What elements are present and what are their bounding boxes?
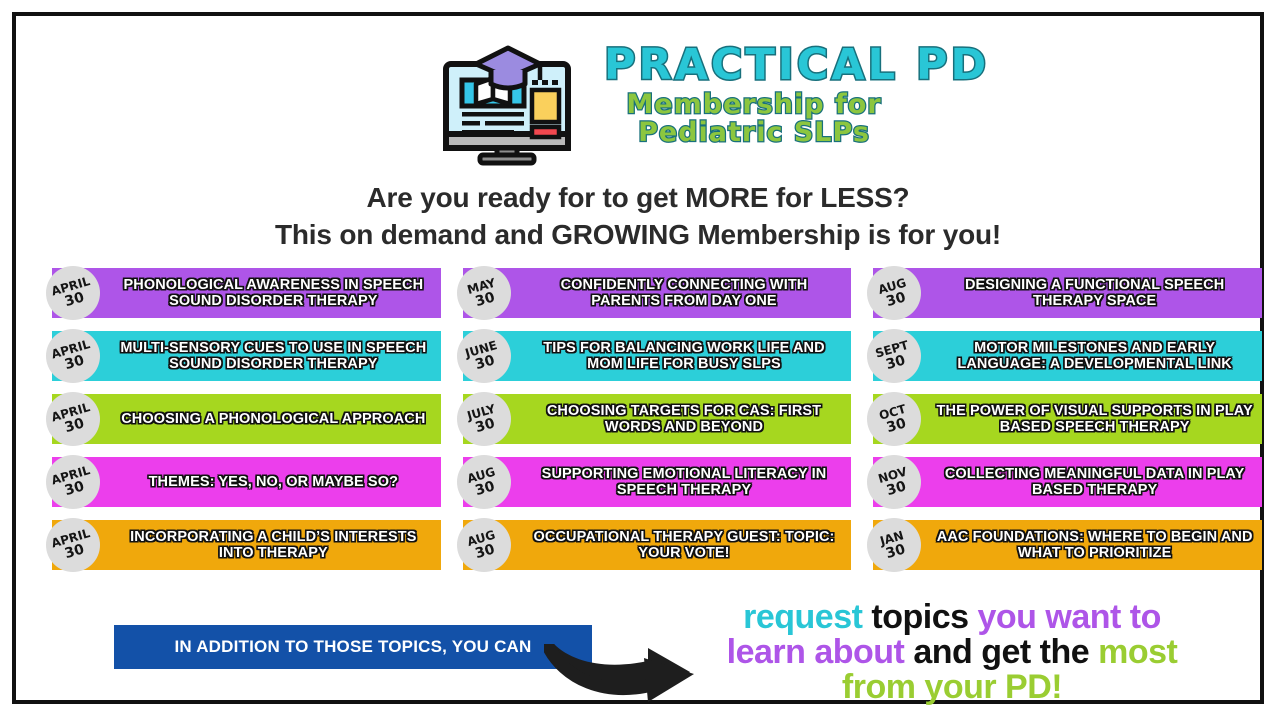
brand-name: PRACTICAL PD bbox=[604, 44, 904, 87]
promo-word-4: learn about bbox=[727, 633, 905, 671]
date-badge: APRIL30 bbox=[46, 329, 100, 383]
column-2: MAY30CONFIDENTLY CONNECTING WITH PARENTS… bbox=[463, 268, 852, 588]
session-card-title: THE POWER OF VISUAL SUPPORTS IN PLAY BAS… bbox=[935, 403, 1254, 435]
session-card[interactable]: APRIL30MULTI-SENSORY CUES TO USE IN SPEE… bbox=[52, 331, 441, 381]
promo-word-6: most bbox=[1098, 633, 1177, 671]
session-card[interactable]: AUG30SUPPORTING EMOTIONAL LITERACY IN SP… bbox=[463, 457, 852, 507]
session-card[interactable]: OCT30THE POWER OF VISUAL SUPPORTS IN PLA… bbox=[873, 394, 1262, 444]
session-card-title: DESIGNING A FUNCTIONAL SPEECH THERAPY SP… bbox=[935, 277, 1254, 309]
date-badge: SEPT30 bbox=[867, 329, 921, 383]
promo-word-1: request bbox=[743, 598, 862, 636]
date-badge-inner: JUNE30 bbox=[464, 339, 503, 374]
session-grid: APRIL30PHONOLOGICAL AWARENESS IN SPEECH … bbox=[52, 268, 1262, 588]
session-card[interactable]: SEPT30MOTOR MILESTONES AND EARLY LANGUAG… bbox=[873, 331, 1262, 381]
session-card[interactable]: AUG30DESIGNING A FUNCTIONAL SPEECH THERA… bbox=[873, 268, 1262, 318]
brand-tagline-line1: Membership for bbox=[626, 89, 881, 120]
session-card[interactable]: APRIL30PHONOLOGICAL AWARENESS IN SPEECH … bbox=[52, 268, 441, 318]
session-card-title: AAC FOUNDATIONS: WHERE TO BEGIN AND WHAT… bbox=[935, 529, 1254, 561]
session-card-title: TIPS FOR BALANCING WORK LIFE AND MOM LIF… bbox=[525, 340, 844, 372]
date-badge: APRIL30 bbox=[46, 518, 100, 572]
session-card-title: MOTOR MILESTONES AND EARLY LANGUAGE: A D… bbox=[935, 340, 1254, 372]
promo-word-3: you want to bbox=[977, 598, 1160, 636]
session-card-title: OCCUPATIONAL THERAPY GUEST: TOPIC: YOUR … bbox=[525, 529, 844, 561]
date-badge-inner: JAN30 bbox=[879, 529, 909, 562]
column-3: AUG30DESIGNING A FUNCTIONAL SPEECH THERA… bbox=[873, 268, 1262, 588]
session-card-title: SUPPORTING EMOTIONAL LITERACY IN SPEECH … bbox=[525, 466, 844, 498]
date-badge-inner: SEPT30 bbox=[874, 338, 914, 373]
date-badge: APRIL30 bbox=[46, 266, 100, 320]
session-card-title: PHONOLOGICAL AWARENESS IN SPEECH SOUND D… bbox=[114, 277, 433, 309]
date-badge: APRIL30 bbox=[46, 455, 100, 509]
date-badge: JUNE30 bbox=[457, 329, 511, 383]
in-addition-cta-button[interactable]: IN ADDITION TO THOSE TOPICS, YOU CAN bbox=[114, 625, 592, 669]
headline: Are you ready for to get MORE for LESS? … bbox=[16, 180, 1260, 254]
computer-monitor-graduation-cap-icon bbox=[436, 42, 596, 166]
column-1: APRIL30PHONOLOGICAL AWARENESS IN SPEECH … bbox=[52, 268, 441, 588]
headline-line-2: This on demand and GROWING Membership is… bbox=[16, 217, 1260, 254]
headline-line-1: Are you ready for to get MORE for LESS? bbox=[16, 180, 1260, 217]
session-card[interactable]: JAN30AAC FOUNDATIONS: WHERE TO BEGIN AND… bbox=[873, 520, 1262, 570]
session-card-title: INCORPORATING A CHILD’S INTERESTS INTO T… bbox=[114, 529, 433, 561]
date-badge-inner: APRIL30 bbox=[50, 338, 95, 375]
poster-frame: PRACTICAL PD Membership for Pediatric SL… bbox=[12, 12, 1264, 704]
session-card[interactable]: APRIL30CHOOSING A PHONOLOGICAL APPROACH bbox=[52, 394, 441, 444]
date-badge-inner: NOV30 bbox=[877, 465, 913, 499]
date-badge-inner: AUG30 bbox=[466, 465, 501, 499]
session-card[interactable]: JUNE30TIPS FOR BALANCING WORK LIFE AND M… bbox=[463, 331, 852, 381]
session-card[interactable]: APRIL30THEMES: YES, NO, OR MAYBE SO? bbox=[52, 457, 441, 507]
date-badge: JULY30 bbox=[457, 392, 511, 446]
session-card-title: MULTI-SENSORY CUES TO USE IN SPEECH SOUN… bbox=[114, 340, 433, 372]
promo-text: request topics you want to learn about a… bbox=[652, 600, 1252, 710]
date-badge: JAN30 bbox=[867, 518, 921, 572]
date-badge: AUG30 bbox=[457, 518, 511, 572]
brand-wordmark: PRACTICAL PD Membership for Pediatric SL… bbox=[604, 44, 904, 172]
brand-header: PRACTICAL PD Membership for Pediatric SL… bbox=[16, 26, 1260, 166]
date-badge-inner: OCT30 bbox=[878, 402, 912, 435]
date-badge: AUG30 bbox=[457, 455, 511, 509]
session-card[interactable]: MAY30CONFIDENTLY CONNECTING WITH PARENTS… bbox=[463, 268, 852, 318]
promo-word-2: topics bbox=[871, 598, 968, 636]
session-card-title: COLLECTING MEANINGFUL DATA IN PLAY BASED… bbox=[935, 466, 1254, 498]
promo-word-7: from your PD! bbox=[842, 668, 1062, 706]
date-badge: OCT30 bbox=[867, 392, 921, 446]
session-card-title: THEMES: YES, NO, OR MAYBE SO? bbox=[114, 474, 433, 490]
date-badge: NOV30 bbox=[867, 455, 921, 509]
session-card-title: CHOOSING TARGETS FOR CAS: FIRST WORDS AN… bbox=[525, 403, 844, 435]
session-card[interactable]: APRIL30INCORPORATING A CHILD’S INTERESTS… bbox=[52, 520, 441, 570]
session-card[interactable]: AUG30OCCUPATIONAL THERAPY GUEST: TOPIC: … bbox=[463, 520, 852, 570]
session-card[interactable]: JULY30CHOOSING TARGETS FOR CAS: FIRST WO… bbox=[463, 394, 852, 444]
date-badge-inner: APRIL30 bbox=[50, 527, 95, 564]
date-badge-inner: MAY30 bbox=[466, 276, 501, 310]
session-card[interactable]: NOV30COLLECTING MEANINGFUL DATA IN PLAY … bbox=[873, 457, 1262, 507]
date-badge-inner: APRIL30 bbox=[50, 275, 95, 312]
date-badge: APRIL30 bbox=[46, 392, 100, 446]
date-badge: MAY30 bbox=[457, 266, 511, 320]
session-card-title: CONFIDENTLY CONNECTING WITH PARENTS FROM… bbox=[525, 277, 844, 309]
date-badge-inner: APRIL30 bbox=[50, 464, 95, 501]
date-badge-inner: AUG30 bbox=[466, 528, 501, 562]
session-card-title: CHOOSING A PHONOLOGICAL APPROACH bbox=[114, 411, 433, 427]
date-badge: AUG30 bbox=[867, 266, 921, 320]
cta-button-label: IN ADDITION TO THOSE TOPICS, YOU CAN bbox=[175, 637, 532, 657]
date-badge-inner: JULY30 bbox=[466, 402, 501, 436]
date-badge-inner: APRIL30 bbox=[50, 401, 95, 438]
date-badge-inner: AUG30 bbox=[877, 276, 912, 310]
brand-tagline-line2: Pediatric SLPs bbox=[638, 117, 870, 148]
promo-word-5: and get the bbox=[913, 633, 1089, 671]
